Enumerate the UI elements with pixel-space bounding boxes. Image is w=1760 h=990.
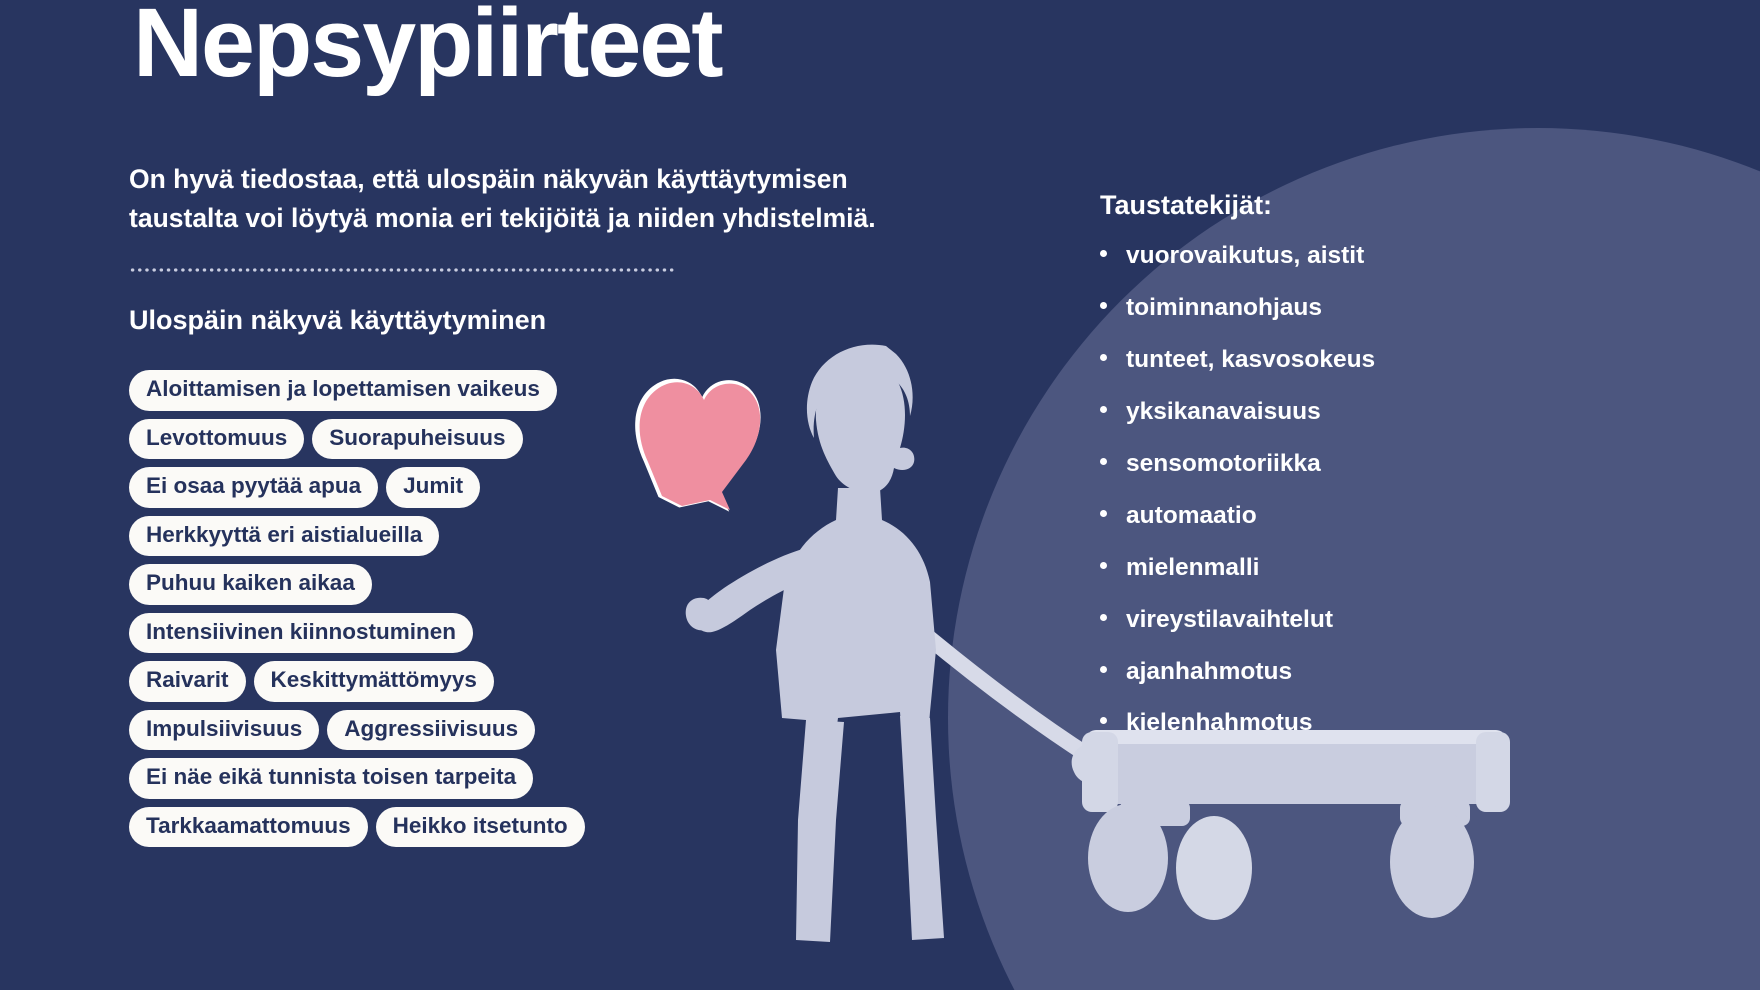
behaviour-pill: Suorapuheisuus [312,419,522,460]
pill-row: Impulsiivisuus Aggressiivisuus [129,710,749,751]
list-item-label: toiminnanohjaus [1126,295,1322,322]
behaviour-pill: Raivarit [129,661,246,702]
list-item-label: sensomotoriikka [1126,451,1321,478]
bullet-icon [1100,458,1107,465]
dotted-divider [129,268,677,272]
bullet-icon [1100,562,1107,569]
list-item: sensomotoriikka [1100,451,1660,478]
pill-row: Tarkkaamattomuus Heikko itsetunto [129,807,749,848]
list-item: vireystilavaihtelut [1100,607,1660,634]
bullet-icon [1100,302,1107,309]
list-item-label: ajanhahmotus [1126,659,1292,686]
bullet-icon [1100,510,1107,517]
pill-row: Herkkyyttä eri aistialueilla [129,516,749,557]
pill-row: Intensiivinen kiinnostuminen [129,613,749,654]
behaviour-pill-list: Aloittamisen ja lopettamisen vaikeus Lev… [129,370,749,855]
pill-row: Ei näe eikä tunnista toisen tarpeita [129,758,749,799]
list-item-label: vuorovaikutus, aistit [1126,243,1364,270]
bullet-icon [1100,354,1107,361]
pill-row: Puhuu kaiken aikaa [129,564,749,605]
list-item: automaatio [1100,503,1660,530]
behaviour-pill: Herkkyyttä eri aistialueilla [129,516,439,557]
behaviour-pill: Aloittamisen ja lopettamisen vaikeus [129,370,557,411]
pill-row: Raivarit Keskittymättömyys [129,661,749,702]
list-item-label: yksikanavaisuus [1126,399,1321,426]
behaviour-pill: Tarkkaamattomuus [129,807,368,848]
behaviour-pill: Keskittymättömyys [254,661,494,702]
list-item-label: vireystilavaihtelut [1126,607,1333,634]
list-item: yksikanavaisuus [1100,399,1660,426]
list-item: toiminnanohjaus [1100,295,1660,322]
bullet-icon [1100,614,1107,621]
behaviour-pill: Ei näe eikä tunnista toisen tarpeita [129,758,533,799]
infographic-canvas: Nepsypiirteet On hyvä tiedostaa, että ul… [0,0,1760,990]
list-item-label: kielenhahmotus [1126,710,1313,737]
behaviour-pill: Levottomuus [129,419,304,460]
pill-row: Levottomuus Suorapuheisuus [129,419,749,460]
pill-row: Ei osaa pyytää apua Jumit [129,467,749,508]
list-item-label: automaatio [1126,503,1257,530]
bullet-icon [1100,406,1107,413]
bullet-icon [1100,250,1107,257]
behaviour-pill: Ei osaa pyytää apua [129,467,378,508]
background-factor-list: vuorovaikutus, aistit toiminnanohjaus tu… [1100,243,1660,737]
list-item: ajanhahmotus [1100,659,1660,686]
list-item: vuorovaikutus, aistit [1100,243,1660,270]
list-item-label: tunteet, kasvosokeus [1126,347,1375,374]
behaviour-pill: Intensiivinen kiinnostuminen [129,613,473,654]
behaviour-pill: Puhuu kaiken aikaa [129,564,372,605]
list-item-label: mielenmalli [1126,555,1259,582]
background-factors-panel: Taustatekijät: vuorovaikutus, aistit toi… [1100,190,1660,762]
right-section-heading: Taustatekijät: [1100,190,1660,221]
bullet-icon [1100,666,1107,673]
pill-row: Aloittamisen ja lopettamisen vaikeus [129,370,749,411]
page-title: Nepsypiirteet [133,0,722,94]
behaviour-pill: Jumit [386,467,480,508]
list-item: mielenmalli [1100,555,1660,582]
behaviour-pill: Aggressiivisuus [327,710,535,751]
bullet-icon [1100,717,1107,724]
list-item: tunteet, kasvosokeus [1100,347,1660,374]
subtitle-text: On hyvä tiedostaa, että ulospäin näkyvän… [129,160,959,238]
list-item: kielenhahmotus [1100,710,1660,737]
behaviour-pill: Impulsiivisuus [129,710,319,751]
left-section-heading: Ulospäin näkyvä käyttäytyminen [129,305,546,336]
behaviour-pill: Heikko itsetunto [376,807,585,848]
